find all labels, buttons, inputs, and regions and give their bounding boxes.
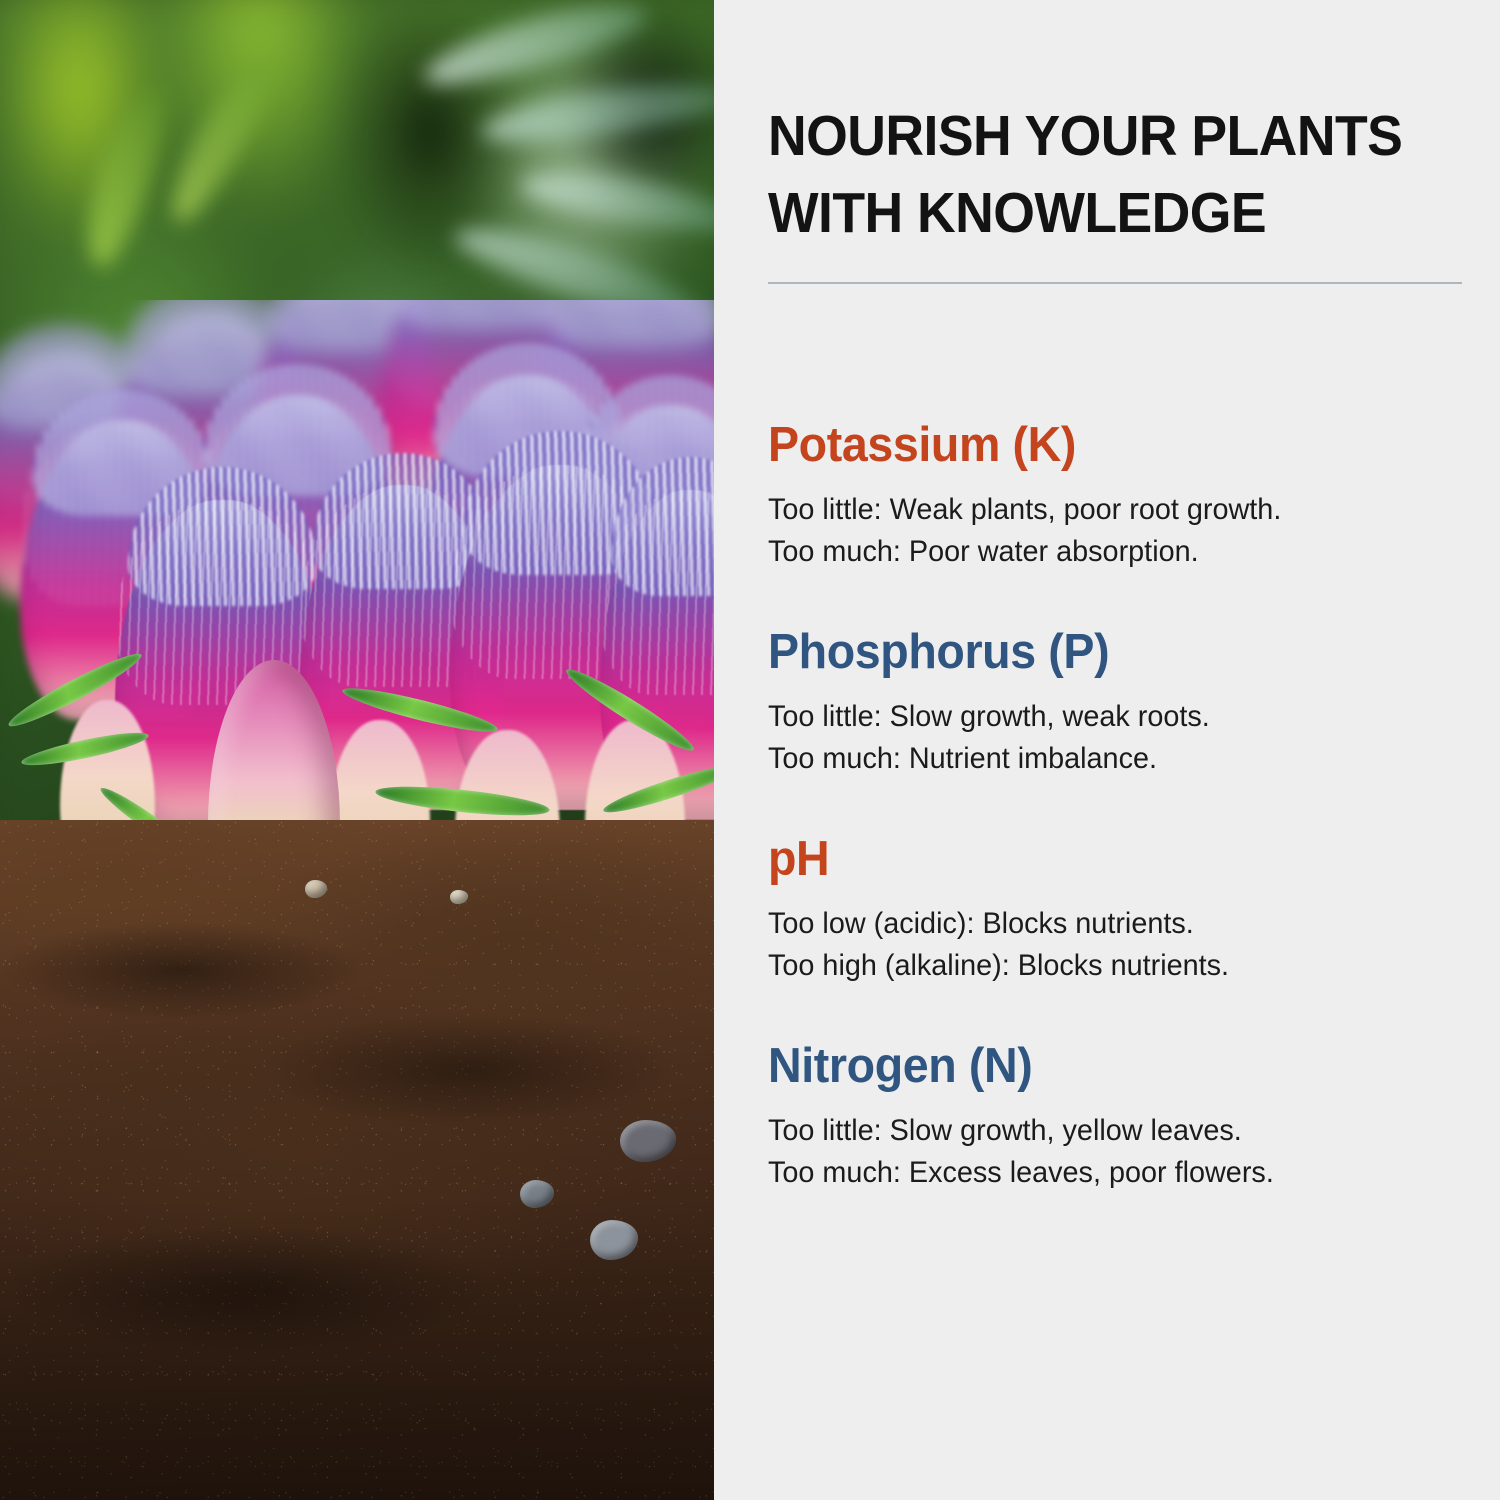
- section-potassium: Potassium (K) Too little: Weak plants, p…: [768, 418, 1480, 573]
- section-line-too-much: Too much: Excess leaves, poor flowers.: [768, 1152, 1452, 1194]
- section-line-too-low: Too low (acidic): Blocks nutrients.: [768, 903, 1452, 945]
- section-line-too-little: Too little: Slow growth, yellow leaves.: [768, 1110, 1452, 1152]
- infographic-page: NOURISH YOUR PLANTS WITH KNOWLEDGE Potas…: [0, 0, 1500, 1500]
- section-line-too-little: Too little: Slow growth, weak roots.: [768, 696, 1452, 738]
- section-nitrogen: Nitrogen (N) Too little: Slow growth, ye…: [768, 1039, 1480, 1194]
- page-title: NOURISH YOUR PLANTS WITH KNOWLEDGE: [768, 98, 1435, 252]
- nutrient-sections: Potassium (K) Too little: Weak plants, p…: [768, 418, 1480, 1194]
- section-ph: pH Too low (acidic): Blocks nutrients. T…: [768, 832, 1480, 987]
- section-heading: Nitrogen (N): [768, 1039, 1444, 1094]
- section-heading: Phosphorus (P): [768, 625, 1444, 680]
- soil: [0, 820, 714, 1500]
- section-line-too-much: Too much: Nutrient imbalance.: [768, 738, 1452, 780]
- info-panel: NOURISH YOUR PLANTS WITH KNOWLEDGE Potas…: [714, 0, 1500, 1500]
- title-divider: [768, 282, 1462, 284]
- section-phosphorus: Phosphorus (P) Too little: Slow growth, …: [768, 625, 1480, 780]
- section-line-too-high: Too high (alkaline): Blocks nutrients.: [768, 945, 1452, 987]
- section-line-too-little: Too little: Weak plants, poor root growt…: [768, 489, 1452, 531]
- soil-shading: [0, 820, 714, 1500]
- section-heading: Potassium (K): [768, 418, 1444, 473]
- section-heading: pH: [768, 832, 1444, 887]
- plant-photo: [0, 0, 714, 1500]
- section-line-too-much: Too much: Poor water absorption.: [768, 531, 1452, 573]
